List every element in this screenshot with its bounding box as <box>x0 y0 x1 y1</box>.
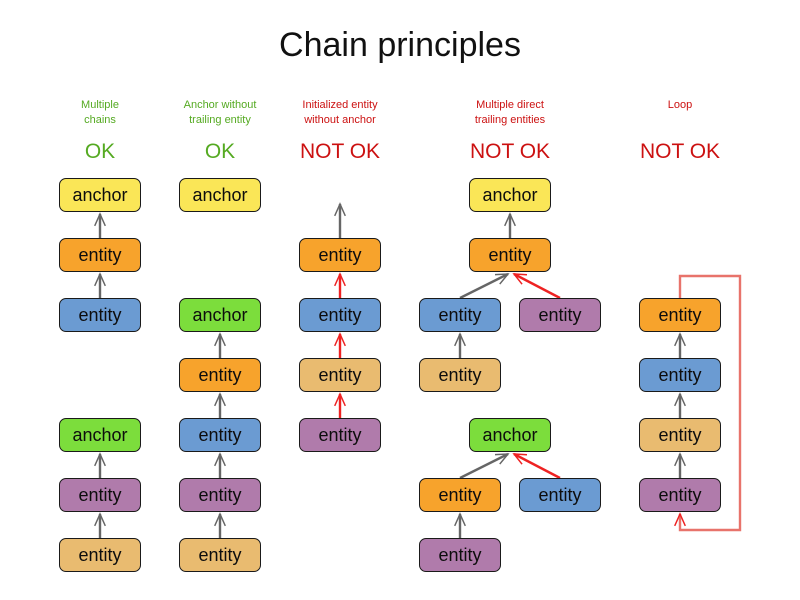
node-entity[interactable]: entity <box>299 238 381 272</box>
edge-arrow <box>460 274 508 298</box>
node-entity[interactable]: entity <box>519 478 601 512</box>
node-entity[interactable]: entity <box>59 538 141 572</box>
node-entity[interactable]: entity <box>639 478 721 512</box>
node-anchor[interactable]: anchor <box>59 418 141 452</box>
edge-arrow <box>505 214 516 238</box>
edge-arrow <box>95 274 106 298</box>
node-anchor[interactable]: anchor <box>59 178 141 212</box>
node-entity[interactable]: entity <box>179 418 261 452</box>
node-entity[interactable]: entity <box>639 358 721 392</box>
node-entity[interactable]: entity <box>639 418 721 452</box>
node-anchor[interactable]: anchor <box>179 178 261 212</box>
edge-arrow <box>514 274 560 298</box>
edge-arrow <box>335 334 346 358</box>
edge-arrow <box>215 334 226 358</box>
node-entity[interactable]: entity <box>59 238 141 272</box>
node-entity[interactable]: entity <box>179 478 261 512</box>
node-entity[interactable]: entity <box>179 538 261 572</box>
node-entity[interactable]: entity <box>299 358 381 392</box>
edge-arrow <box>675 334 686 358</box>
node-entity[interactable]: entity <box>59 298 141 332</box>
node-entity[interactable]: entity <box>419 298 501 332</box>
node-entity[interactable]: entity <box>419 358 501 392</box>
edge-arrow <box>215 394 226 418</box>
edge-arrow <box>95 514 106 538</box>
edge-arrow <box>455 514 466 538</box>
node-entity[interactable]: entity <box>419 538 501 572</box>
node-anchor[interactable]: anchor <box>469 418 551 452</box>
edge-arrow <box>215 454 226 478</box>
edge-arrow <box>215 514 226 538</box>
edge-arrow <box>675 394 686 418</box>
diagram-canvas: Chain principles MultiplechainsOKAnchor … <box>0 0 800 600</box>
edge-arrow <box>335 274 346 298</box>
node-entity[interactable]: entity <box>179 358 261 392</box>
node-entity[interactable]: entity <box>419 478 501 512</box>
node-anchor[interactable]: anchor <box>469 178 551 212</box>
node-anchor[interactable]: anchor <box>179 298 261 332</box>
node-entity[interactable]: entity <box>639 298 721 332</box>
edge-arrow <box>95 454 106 478</box>
node-entity[interactable]: entity <box>299 418 381 452</box>
edge-arrow <box>335 204 346 238</box>
node-entity[interactable]: entity <box>469 238 551 272</box>
edge-arrow <box>460 454 508 478</box>
node-entity[interactable]: entity <box>299 298 381 332</box>
node-entity[interactable]: entity <box>519 298 601 332</box>
edge-arrow <box>514 454 560 478</box>
edge-arrow <box>455 334 466 358</box>
edge-arrow <box>95 214 106 238</box>
edge-arrow <box>675 454 686 478</box>
node-entity[interactable]: entity <box>59 478 141 512</box>
edge-arrow <box>335 394 346 418</box>
